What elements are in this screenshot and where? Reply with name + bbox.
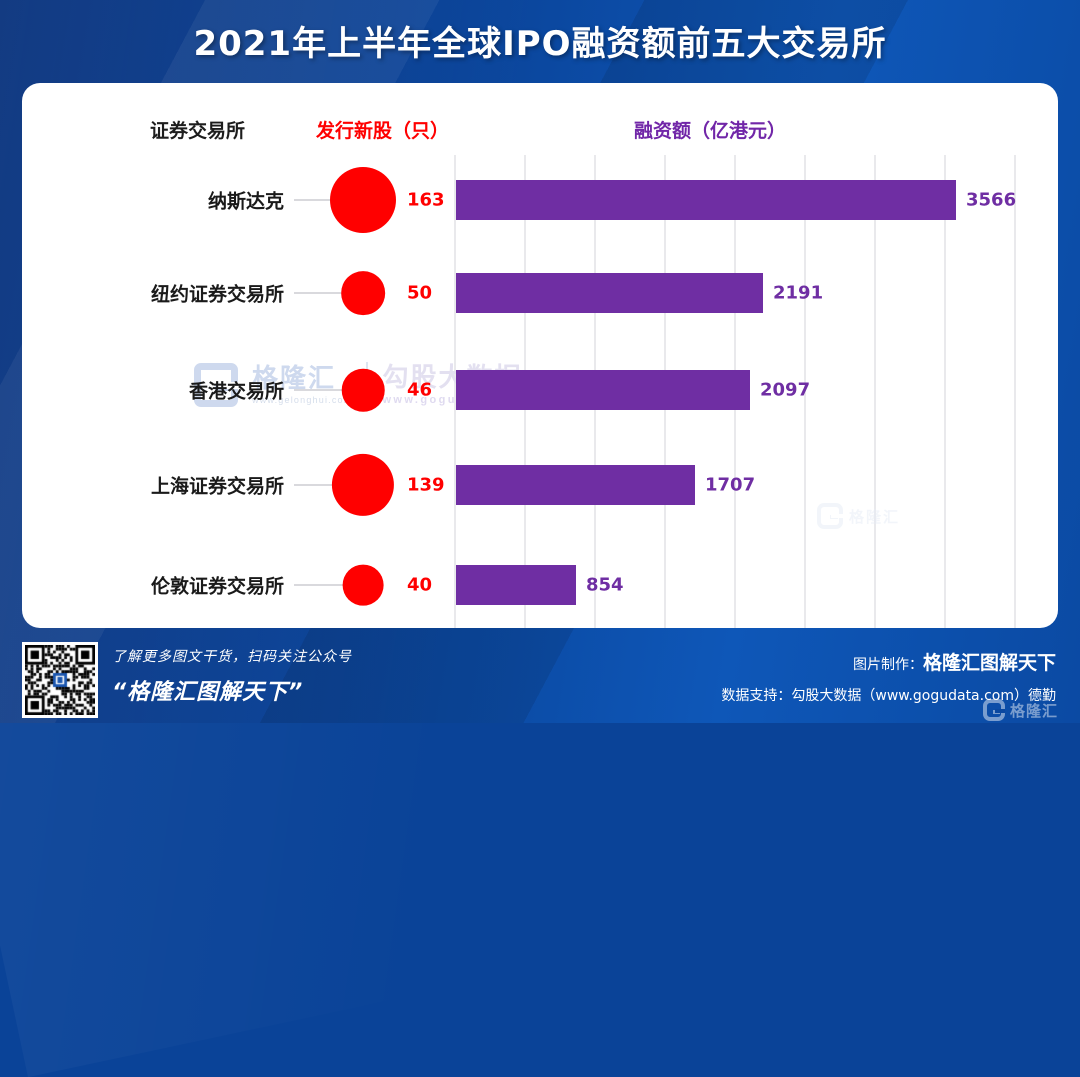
gridline [874,155,876,628]
new-listings-bubble [343,565,384,606]
exchange-label: 纽约证券交易所 [151,280,284,307]
leader-line [294,584,343,586]
footer-corner-brand: 格隆汇 [1010,700,1058,721]
footer-credit-line: 图片制作：格隆汇图解天下 [721,648,1056,675]
leader-line [294,199,330,201]
funds-raised-value: 3566 [966,190,1016,211]
exchange-label: 上海证券交易所 [151,472,284,499]
footer-made-by-label: 图片制作： [853,657,923,673]
new-listings-value: 40 [407,575,432,596]
chart-card: 证券交易所 发行新股（只） 融资额（亿港元） 格隆汇 www.gelonghui… [22,83,1058,628]
leader-line [294,292,341,294]
exchange-label: 纳斯达克 [208,187,284,214]
new-listings-bubble [332,454,394,516]
footer-right-text: 图片制作：格隆汇图解天下 数据支持：勾股大数据（www.gogudata.com… [721,648,1056,705]
funds-raised-bar [456,273,763,313]
new-listings-value: 46 [407,380,432,401]
funds-raised-value: 2097 [760,380,810,401]
exchange-label: 伦敦证券交易所 [151,572,284,599]
funds-raised-value: 854 [586,575,624,596]
footer-account-name: “格隆汇图解天下” [112,674,352,706]
new-listings-bubble [342,369,385,412]
watermark-right: 格隆汇 [817,503,900,529]
footer-made-by-value: 格隆汇图解天下 [923,652,1056,674]
gridline [1014,155,1016,628]
funds-raised-bar [456,465,695,505]
page-title: 2021年上半年全球IPO融资额前五大交易所 [0,16,1080,65]
funds-raised-bar [456,370,750,410]
gridline [944,155,946,628]
new-listings-bubble [341,271,385,315]
leader-line [294,389,342,391]
new-listings-bubble [330,167,396,233]
qr-code[interactable] [22,642,98,718]
gelonghui-logo-icon-footer [983,699,1005,721]
funds-raised-bar [456,180,956,220]
column-header-exchange: 证券交易所 [150,116,245,143]
funds-raised-value: 2191 [773,283,823,304]
gelonghui-logo-icon-small [817,503,843,529]
exchange-label: 香港交易所 [189,377,284,404]
footer-watermark: 格隆汇 [983,699,1058,721]
footer-follow-line: 了解更多图文干货，扫码关注公众号 [112,646,352,666]
footer-bar: 了解更多图文干货，扫码关注公众号 “格隆汇图解天下” 图片制作：格隆汇图解天下 … [0,628,1080,723]
new-listings-value: 50 [407,283,432,304]
funds-raised-value: 1707 [705,475,755,496]
new-listings-value: 163 [407,190,445,211]
new-listings-value: 139 [407,475,445,496]
watermark-corner-brand: 格隆汇 [849,506,900,527]
column-header-new-listings: 发行新股（只） [316,116,449,143]
funds-raised-bar [456,565,576,605]
column-header-funds-raised: 融资额（亿港元） [634,116,786,143]
footer-left-text: 了解更多图文干货，扫码关注公众号 “格隆汇图解天下” [112,646,352,706]
leader-line [294,484,332,486]
